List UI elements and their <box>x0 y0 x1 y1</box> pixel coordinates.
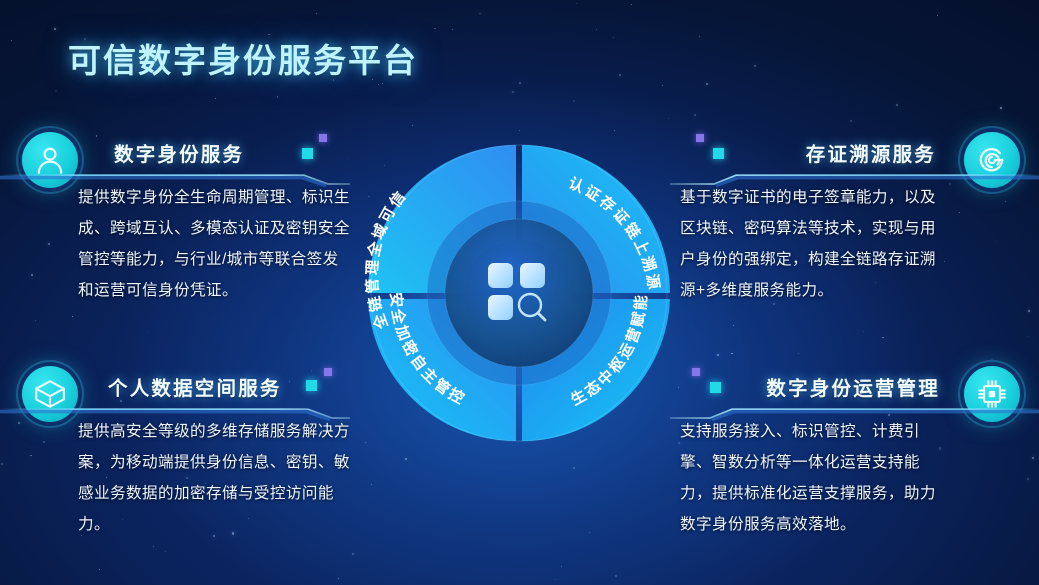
user-icon <box>22 132 78 188</box>
panel-body-text: 提供高安全等级的多维存储服务解决方案，为移动端提供身份信息、密钥、敏感业务数据的… <box>78 416 350 540</box>
panel-heading: 数字身份服务 <box>114 138 244 167</box>
panel-body-text: 基于数字证书的电子签章能力，以及区块链、密码算法等技术，实现与用户身份的强绑定，… <box>680 182 948 306</box>
central-donut-diagram[interactable]: 全链管理全域可信 认证存证链上溯源 安全加密自主管控 生态中枢运营赋能 <box>358 142 680 444</box>
chip-processor-icon <box>964 366 1020 422</box>
panel-heading: 数字身份运营管理 <box>766 372 940 401</box>
panel-body-text: 支持服务接入、标识管控、计费引擎、智数分析等一体化运营支持能力，提供标准化运营支… <box>680 416 948 540</box>
cube-box-icon <box>22 366 78 422</box>
fingerprint-spiral-icon <box>964 132 1020 188</box>
panel-heading: 存证溯源服务 <box>806 138 936 167</box>
slide-canvas: 可信数字身份服务平台 数字身份服务 <box>0 0 1039 585</box>
panel-body-text: 提供数字身份全生命周期管理、标识生成、跨域互认、多模态认证及密钥安全管控等能力，… <box>78 182 350 306</box>
page-title: 可信数字身份服务平台 <box>68 34 418 82</box>
panel-heading: 个人数据空间服务 <box>108 372 282 401</box>
